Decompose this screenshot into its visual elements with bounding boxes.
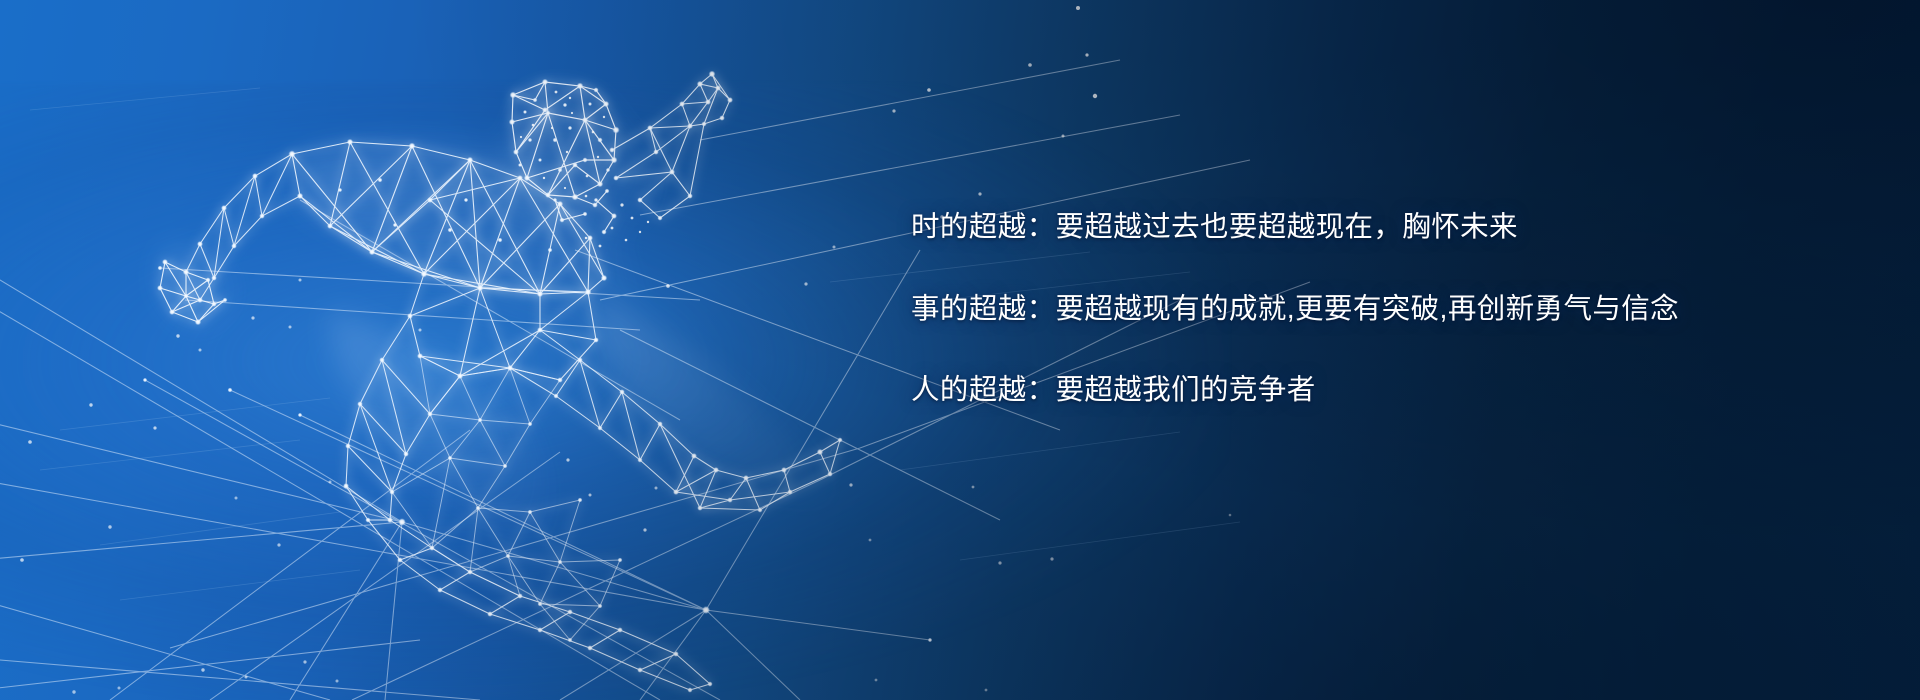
- tagline-block: 时的超越：要超越过去也要超越现在，胸怀未来 事的超越：要超越现有的成就,更要有突…: [911, 213, 1811, 405]
- tagline-people: 人的超越：要超越我们的竞争者: [911, 376, 1811, 405]
- banner-stage: 时的超越：要超越过去也要超越现在，胸怀未来 事的超越：要超越现有的成就,更要有突…: [0, 0, 1920, 700]
- tagline-matter: 事的超越：要超越现有的成就,更要有突破,再创新勇气与信念: [911, 295, 1811, 324]
- tagline-time: 时的超越：要超越过去也要超越现在，胸怀未来: [911, 213, 1811, 242]
